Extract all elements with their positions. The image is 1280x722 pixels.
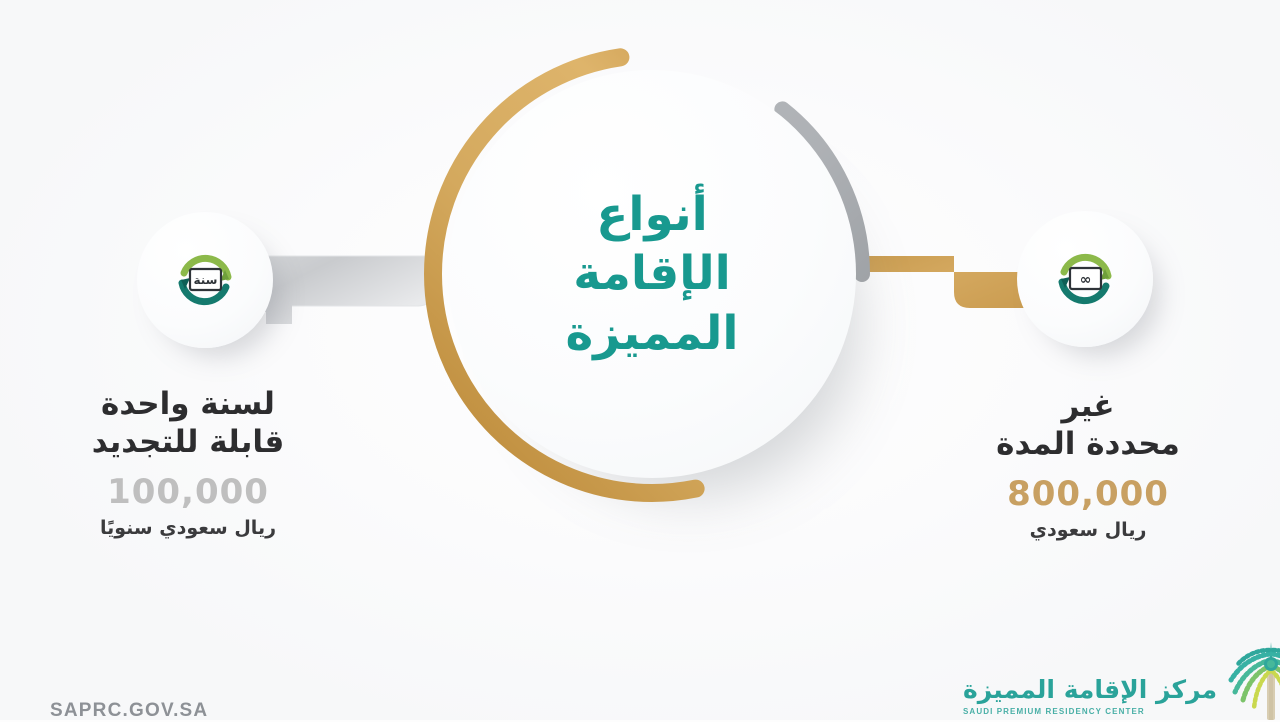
node-left-one-year[interactable]: سنة [137, 212, 273, 348]
renewal-cycle-infinity-icon: ∞ [1048, 242, 1122, 316]
hub-title-line-1: أنواع [596, 186, 707, 243]
right-heading-line-2: محددة المدة [923, 426, 1253, 464]
left-amount: 100,000 [23, 475, 353, 509]
right-amount: 800,000 [923, 477, 1253, 511]
organization-logo[interactable]: مركز الإقامة المميزة SAUDI PREMIUM RESID… [963, 638, 1263, 720]
node-right-unlimited[interactable]: ∞ [1017, 211, 1153, 347]
logo-text: مركز الإقامة المميزة SAUDI PREMIUM RESID… [963, 676, 1217, 721]
left-currency: ريال سعودي سنويًا [23, 516, 353, 541]
hub-title: أنواع الإقامة المميزة [448, 70, 856, 478]
logo-arabic-name: مركز الإقامة المميزة [963, 676, 1217, 704]
palm-tree-logo-icon [1223, 638, 1280, 720]
left-heading-line-2: قابلة للتجديد [23, 424, 353, 462]
left-info-block: لسنة واحدة قابلة للتجديد 100,000 ريال سع… [23, 386, 353, 540]
right-info-block: غير محددة المدة 800,000 ريال سعودي [923, 388, 1253, 542]
node-left-icon-badge: سنة [194, 273, 218, 287]
infographic-canvas: أنواع الإقامة المميزة سنة ∞ [0, 0, 1280, 720]
left-heading-line-1: لسنة واحدة [23, 386, 353, 424]
logo-english-name: SAUDI PREMIUM RESIDENCY CENTER [963, 707, 1145, 716]
site-url[interactable]: SAPRC.GOV.SA [50, 700, 208, 722]
hub-title-line-3: المميزة [566, 305, 739, 362]
right-currency: ريال سعودي [923, 518, 1253, 543]
node-right-icon-badge: ∞ [1080, 272, 1092, 288]
right-heading-line-1: غير [923, 388, 1253, 426]
hub-central-circle: أنواع الإقامة المميزة [418, 40, 886, 508]
renewal-cycle-year-icon: سنة [168, 243, 242, 317]
hub-title-line-2: الإقامة [573, 245, 730, 302]
